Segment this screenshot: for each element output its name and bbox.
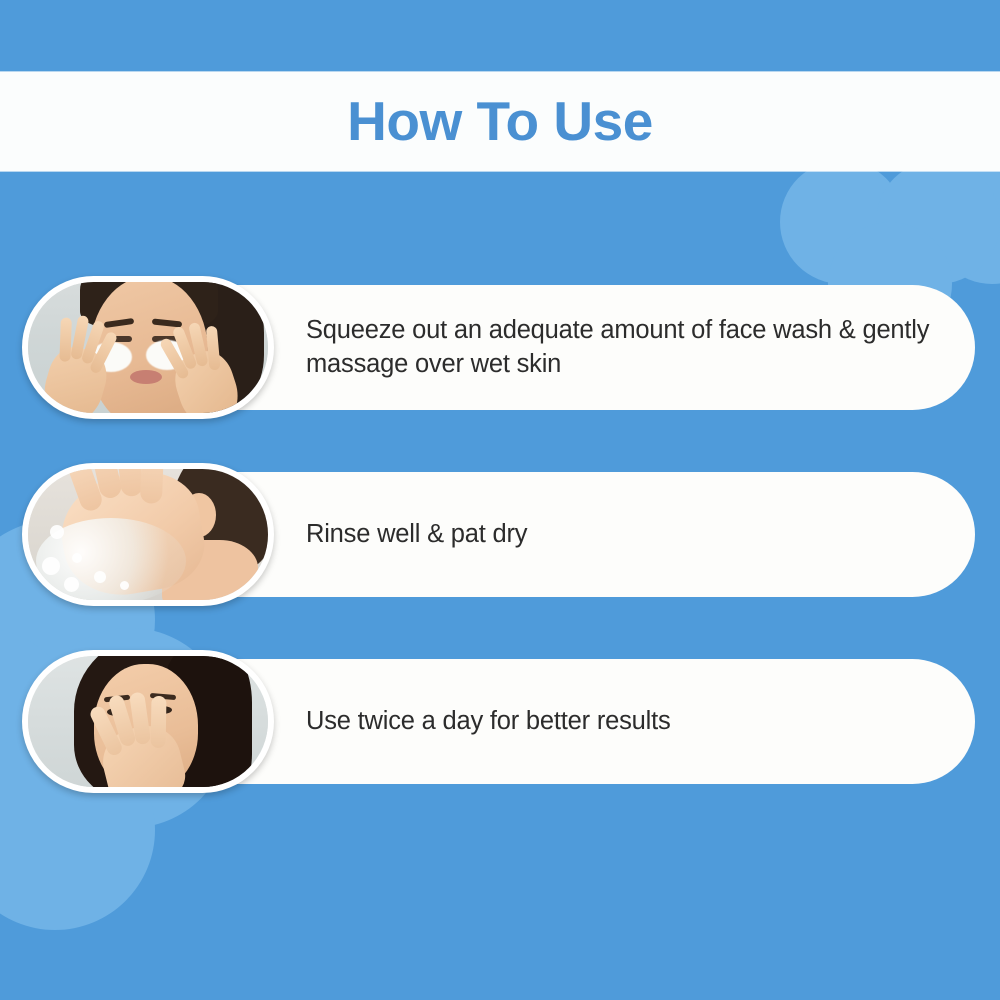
list-item: Rinse well & pat dry (0, 463, 1000, 588)
step-text: Use twice a day for better results (306, 705, 671, 739)
step-thumbnail (22, 276, 274, 419)
step-text: Squeeze out an adequate amount of face w… (306, 314, 935, 382)
steps-list: Squeeze out an adequate amount of face w… (0, 276, 1000, 837)
clover-petal (780, 160, 904, 284)
step-thumbnail-image (28, 656, 268, 787)
list-item: Use twice a day for better results (0, 650, 1000, 775)
clover-petal (930, 160, 1000, 284)
woman-rinsing-face-with-water-photo (28, 469, 268, 600)
page-title: How To Use (347, 94, 653, 149)
how-to-use-poster: How To Use Squeeze out an adequate amoun… (0, 0, 1000, 1000)
woman-applying-facewash-photo (28, 282, 268, 413)
list-item: Squeeze out an adequate amount of face w… (0, 276, 1000, 401)
clover-petal (876, 160, 1000, 284)
step-thumbnail (22, 650, 274, 793)
smiling-woman-touching-face-photo (28, 656, 268, 787)
step-text: Rinse well & pat dry (306, 518, 527, 552)
header-band: How To Use (0, 72, 1000, 171)
step-thumbnail-image (28, 282, 268, 413)
step-thumbnail-image (28, 469, 268, 600)
step-thumbnail (22, 463, 274, 606)
